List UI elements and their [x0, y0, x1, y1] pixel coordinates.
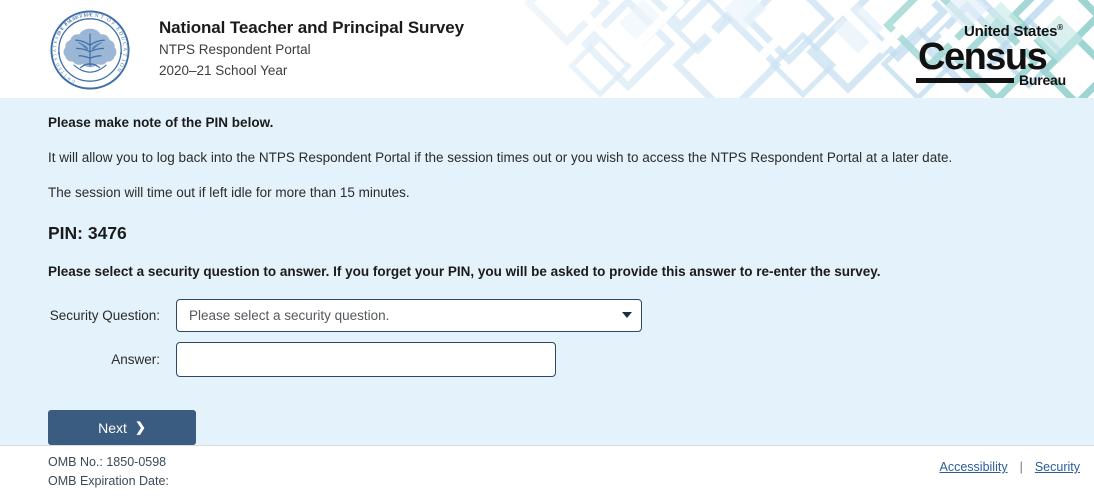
- page-title: National Teacher and Principal Survey: [159, 18, 464, 38]
- site-header: D E P A R T M E N T O F E D U: [0, 0, 1094, 98]
- header-school-year: 2020–21 School Year: [159, 61, 464, 80]
- answer-row: Answer:: [48, 339, 1070, 380]
- security-question-row: Security Question: Please select a secur…: [48, 295, 1070, 336]
- security-question-instruction: Please select a security question to ans…: [48, 263, 1070, 281]
- page-root: D E P A R T M E N T O F E D U: [0, 0, 1094, 501]
- footer-link-separator: |: [1020, 460, 1023, 474]
- omb-number: OMB No.: 1850-0598: [48, 453, 169, 472]
- accessibility-link[interactable]: Accessibility: [940, 460, 1008, 474]
- answer-label: Answer:: [48, 351, 176, 369]
- census-logo-bureau: Bureau: [1019, 73, 1066, 87]
- omb-expiration-date: OMB Expiration Date:: [48, 472, 169, 491]
- security-question-select-wrapper[interactable]: Please select a security question.: [176, 299, 642, 332]
- main-content: Please make note of the PIN below. It wi…: [0, 98, 1094, 445]
- header-subtitle: NTPS Respondent Portal: [159, 40, 464, 59]
- site-footer: OMB No.: 1850-0598 OMB Expiration Date: …: [0, 445, 1094, 501]
- svg-text:A: A: [122, 47, 128, 51]
- pin-info-paragraph: It will allow you to log back into the N…: [48, 149, 1070, 167]
- next-button[interactable]: Next ❯: [48, 410, 196, 445]
- answer-input[interactable]: [176, 342, 556, 377]
- pin-display: PIN: 3476: [48, 222, 1070, 244]
- chevron-right-icon: ❯: [135, 421, 146, 434]
- omb-info: OMB No.: 1850-0598 OMB Expiration Date:: [48, 453, 169, 491]
- security-link[interactable]: Security: [1035, 460, 1080, 474]
- census-bureau-logo: United States® Census Bureau: [916, 20, 1066, 87]
- session-timeout-paragraph: The session will time out if left idle f…: [48, 184, 1070, 202]
- registered-mark-icon: ®: [1057, 23, 1063, 32]
- footer-links: Accessibility | Security: [940, 460, 1080, 474]
- department-of-education-seal-icon: D E P A R T M E N T O F E D U: [49, 9, 131, 91]
- census-logo-rule: [916, 78, 1014, 83]
- header-titles: National Teacher and Principal Survey NT…: [159, 18, 464, 80]
- security-question-label: Security Question:: [48, 307, 176, 325]
- security-question-select[interactable]: Please select a security question.: [176, 299, 642, 332]
- pin-notice-heading: Please make note of the PIN below.: [48, 114, 1070, 132]
- security-question-form: Security Question: Please select a secur…: [48, 295, 1070, 380]
- census-logo-census: Census: [918, 39, 1066, 75]
- next-button-label: Next: [98, 421, 127, 435]
